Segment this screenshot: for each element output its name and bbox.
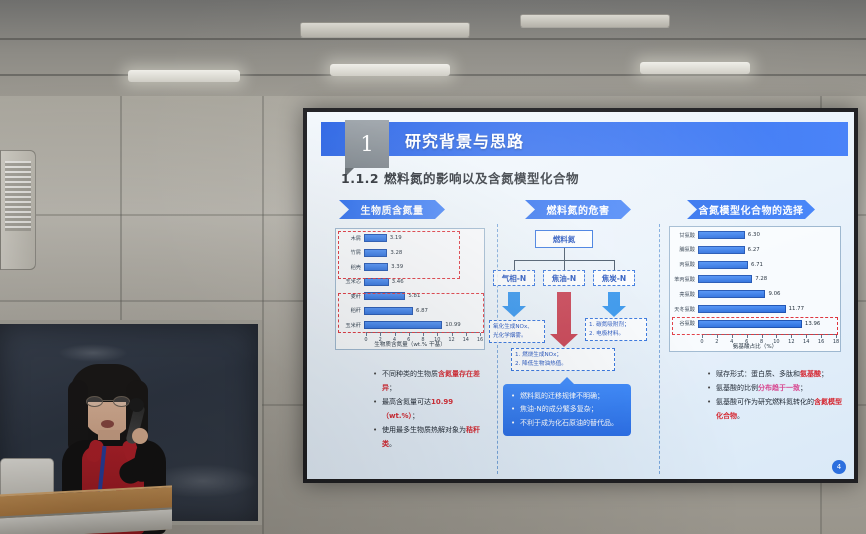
- banner-fuel-nitrogen-hazard: 燃料氮的危害: [525, 200, 631, 219]
- ceiling-seam: [0, 38, 866, 40]
- left-bullets: 不同种类的生物质含氮量存在差异； 最高含氮量可达10.99（wt.%）； 使用最…: [333, 367, 489, 451]
- right-bullets: 赋存形式：蛋白质、多肽和氨基酸； 氨基酸的比例分布趋于一致； 氨基酸可作为研究燃…: [667, 367, 845, 423]
- ceiling-lamp: [128, 70, 240, 82]
- x-tick: [395, 333, 396, 336]
- list-item: 不同种类的生物质含氮量存在差异；: [373, 367, 489, 395]
- bar: [698, 261, 748, 269]
- note-char-uses: 1. 碳氮吸附剂； 2. 电极材料。: [585, 318, 647, 341]
- list-item: 最高含氮量可达10.99（wt.%）；: [373, 395, 489, 423]
- note-gas-effects: 氧化生成NOx、 光化学烟雾。: [489, 320, 545, 343]
- banner-model-compound-choice: 含氮模型化合物的选择: [687, 200, 815, 219]
- node-tar-n: 焦油-N: [543, 270, 585, 286]
- arrow-head-char: [602, 306, 626, 317]
- list-item: 使用最多生物质热解对象为秸秆类。: [373, 423, 489, 451]
- bar: [698, 231, 745, 239]
- x-tick: [806, 335, 807, 338]
- bar-value-label: 3.46: [389, 279, 404, 285]
- bar: [698, 305, 786, 313]
- arrow-head-tar: [550, 334, 578, 347]
- list-item: 不利于成为化石原油的替代品。: [511, 417, 623, 430]
- x-tick: [717, 335, 718, 338]
- header-bar: [321, 122, 848, 156]
- connector: [564, 260, 565, 270]
- x-tick: [366, 333, 367, 336]
- bar-value-label: 7.28: [752, 276, 767, 282]
- x-tick: [836, 335, 837, 338]
- x-tick: [380, 333, 381, 336]
- column-separator: [497, 224, 498, 474]
- bar-category-label: 天冬氨酸: [672, 306, 698, 313]
- x-tick: [732, 335, 733, 338]
- slide-header: 1 研究背景与思路: [321, 122, 848, 156]
- x-axis-label: 氨基酸占比（%）: [670, 342, 840, 350]
- x-tick: [821, 335, 822, 338]
- arrow-down-char: [608, 292, 620, 306]
- bar-row: 甘氨酸6.30: [672, 231, 854, 239]
- x-tick: [423, 333, 424, 336]
- bar-value-label: 6.30: [745, 232, 760, 238]
- node-fuel-nitrogen: 燃料氮: [535, 230, 593, 248]
- mouth: [101, 420, 114, 428]
- x-tick: [409, 333, 410, 336]
- connector: [514, 260, 515, 270]
- bar-value-label: 6.71: [748, 262, 763, 268]
- bar-category-label: 亮氨酸: [672, 291, 698, 298]
- x-tick: [762, 335, 763, 338]
- chart-biomass-nitrogen: 木屑3.19竹屑3.28稻壳3.39玉米芯3.46麦秆5.81稻秆6.87玉米秆…: [335, 228, 485, 350]
- node-gas-n: 气相-N: [493, 270, 535, 286]
- connector: [564, 248, 565, 260]
- banner-biomass-nitrogen: 生物质含氮量: [339, 200, 445, 219]
- bar-value-label: 6.27: [745, 247, 760, 253]
- bar-category-label: 苯丙氨酸: [672, 276, 698, 283]
- x-tick: [466, 333, 467, 336]
- list-item: 燃料氮的迁移规律不明确；: [511, 390, 623, 403]
- bar-value-label: 9.06: [765, 291, 780, 297]
- bar-row: 天冬氨酸11.77: [672, 305, 854, 313]
- lecture-hall-photo: 1 研究背景与思路 1.1.2 燃料氮的影响以及含氮模型化合物 生物质含氮量 燃…: [0, 0, 866, 534]
- x-tick: [776, 335, 777, 338]
- x-tick: [747, 335, 748, 338]
- arrow-down-gas: [508, 292, 520, 306]
- node-char-n: 焦炭-N: [593, 270, 635, 286]
- arrow-down-tar: [557, 292, 571, 334]
- bar: [698, 290, 765, 298]
- ceiling-lamp: [330, 64, 450, 76]
- arrow-head-gas: [502, 306, 526, 317]
- slide-subtitle: 1.1.2 燃料氮的影响以及含氮模型化合物: [341, 168, 579, 187]
- ceiling-duct: [300, 22, 470, 38]
- air-conditioner: [0, 150, 36, 270]
- x-tick: [480, 333, 481, 336]
- chart-amino-acid-ratio: 甘氨酸6.30脯氨酸6.27丙氨酸6.71苯丙氨酸7.28亮氨酸9.06天冬氨酸…: [669, 226, 841, 352]
- list-item: 氨基酸可作为研究燃料氮转化的含氮模型化合物。: [707, 395, 845, 423]
- bar-row: 亮氨酸9.06: [672, 290, 854, 298]
- x-tick: [791, 335, 792, 338]
- chalk-smudge: [58, 344, 128, 362]
- note-tar-effects: 1. 燃烧生成NOx； 2. 降低生物油热值。: [511, 348, 615, 371]
- ceiling-lamp: [640, 62, 750, 74]
- list-item: 赋存形式：蛋白质、多肽和氨基酸；: [707, 367, 845, 381]
- list-item: 焦油-N的成分繁多复杂；: [511, 403, 623, 416]
- list-item: 氨基酸的比例分布趋于一致；: [707, 381, 845, 395]
- bar-row: 脯氨酸6.27: [672, 246, 854, 254]
- x-tick: [452, 333, 453, 336]
- glasses-icon: [86, 396, 130, 407]
- column-separator: [659, 224, 660, 474]
- x-tick: [437, 333, 438, 336]
- bar-category-label: 丙氨酸: [672, 261, 698, 268]
- highlight-box-bottom: [338, 293, 484, 333]
- projection-screen: 1 研究背景与思路 1.1.2 燃料氮的影响以及含氮模型化合物 生物质含氮量 燃…: [303, 108, 858, 483]
- slide-page-number: 4: [832, 460, 846, 474]
- bar-category-label: 玉米芯: [338, 278, 364, 285]
- x-tick: [702, 335, 703, 338]
- bar-category-label: 脯氨酸: [672, 246, 698, 253]
- bar: [698, 246, 745, 254]
- slide: 1 研究背景与思路 1.1.2 燃料氮的影响以及含氮模型化合物 生物质含氮量 燃…: [307, 112, 854, 479]
- highlight-box-glutamic: [672, 317, 838, 335]
- x-axis-label: 生物质含氮量（wt.% 干基）: [336, 340, 484, 348]
- section-number: 1: [345, 120, 389, 168]
- bar-category-label: 甘氨酸: [672, 232, 698, 239]
- slide-title: 研究背景与思路: [405, 128, 524, 152]
- bar-value-label: 11.77: [786, 306, 804, 312]
- hand-holding-mic: [132, 428, 148, 444]
- bar-row: 丙氨酸6.71: [672, 261, 854, 269]
- highlight-box-top: [338, 231, 460, 279]
- bar-row: 苯丙氨酸7.28: [672, 275, 854, 283]
- callout-problems: 燃料氮的迁移规律不明确； 焦油-N的成分繁多复杂； 不利于成为化石原油的替代品。: [503, 384, 631, 436]
- ceiling-duct: [520, 14, 670, 28]
- bar: [698, 275, 752, 283]
- connector: [614, 260, 615, 270]
